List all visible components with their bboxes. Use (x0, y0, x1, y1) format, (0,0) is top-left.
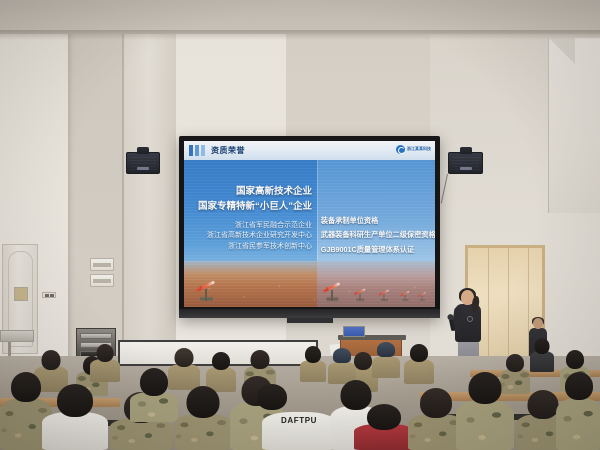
audience-member (328, 348, 356, 384)
lecture-hall-scene: 资质荣誉 浙江某某科技 (0, 0, 600, 450)
three-bars-icon (189, 145, 205, 156)
audience-member (90, 344, 120, 382)
slide-left-item: 浙江省民参军技术创新中心 (188, 242, 312, 253)
audience-member (556, 372, 600, 450)
presenter-with-microphone (452, 290, 486, 366)
sand-texture (184, 281, 435, 307)
slide-body: 国家高新技术企业 国家专精特新“小巨人”企业 浙江省军民融合示范企业 浙江省高新… (184, 160, 435, 307)
audience-member (456, 372, 514, 450)
audience-member (372, 342, 400, 378)
slide-right-item: GJB9001C质量管理体系认证 (321, 243, 432, 257)
slide-right-item: 武器装备科研生产单位二级保密资格 (321, 228, 432, 242)
presenter-shirt-logo (467, 316, 473, 322)
right-wall-recess (548, 38, 600, 213)
wall-mounted-display[interactable]: 资质荣誉 浙江某某科技 (179, 136, 440, 318)
soffit-shadow (0, 30, 600, 40)
display-stand (287, 318, 333, 323)
electrical-panel-lower (90, 274, 114, 287)
slide-left-column: 国家高新技术企业 国家专精特新“小巨人”企业 浙江省军民融合示范企业 浙江省高新… (188, 186, 316, 253)
wall-outlet[interactable] (42, 292, 56, 298)
electrical-panel-upper (90, 258, 114, 271)
ceiling-soffit (0, 0, 600, 34)
display-bezel (179, 309, 440, 318)
slide-left-item: 浙江省高新技术企业研究开发中心 (188, 231, 312, 242)
audience-member (404, 344, 434, 384)
slide-title: 资质荣誉 (211, 145, 245, 156)
company-circle-logo-icon (396, 145, 405, 154)
wall-speaker-right-icon (448, 152, 483, 174)
pilaster-edge (122, 10, 124, 380)
company-logo-name: 浙江某某科技 (407, 147, 431, 151)
audience-member (530, 338, 554, 372)
audience-member (300, 346, 326, 382)
slide-left-item: 浙江省军民融合示范企业 (188, 221, 312, 232)
door-window (14, 287, 28, 301)
wall-pilaster (122, 10, 176, 380)
slide-headline-1: 国家高新技术企业 (188, 186, 312, 199)
slide-screen: 资质荣誉 浙江某某科技 (184, 141, 435, 307)
missile-launcher-desert-photo (184, 261, 435, 307)
slide-headline-2: 国家专精特新“小巨人”企业 (184, 201, 312, 214)
side-desk (0, 330, 34, 342)
audience-member (354, 404, 414, 450)
slide-header: 资质荣誉 浙江某某科技 (184, 141, 435, 160)
lectern-monitor (343, 326, 365, 337)
slide-right-column: 装备承制单位资格 武器装备科研生产单位二级保密资格 GJB9001C质量管理体系… (321, 214, 432, 257)
wall-speaker-left-icon (126, 152, 160, 174)
slide-right-item: 装备承制单位资格 (321, 214, 432, 228)
audience-member (130, 368, 178, 422)
audience-member-daftpunk-shirt: DAFTPU (262, 398, 336, 450)
audience-member (174, 386, 232, 450)
shirt-text: DAFTPU (281, 416, 317, 425)
company-logo: 浙江某某科技 (396, 145, 431, 154)
audience-member (42, 384, 108, 450)
